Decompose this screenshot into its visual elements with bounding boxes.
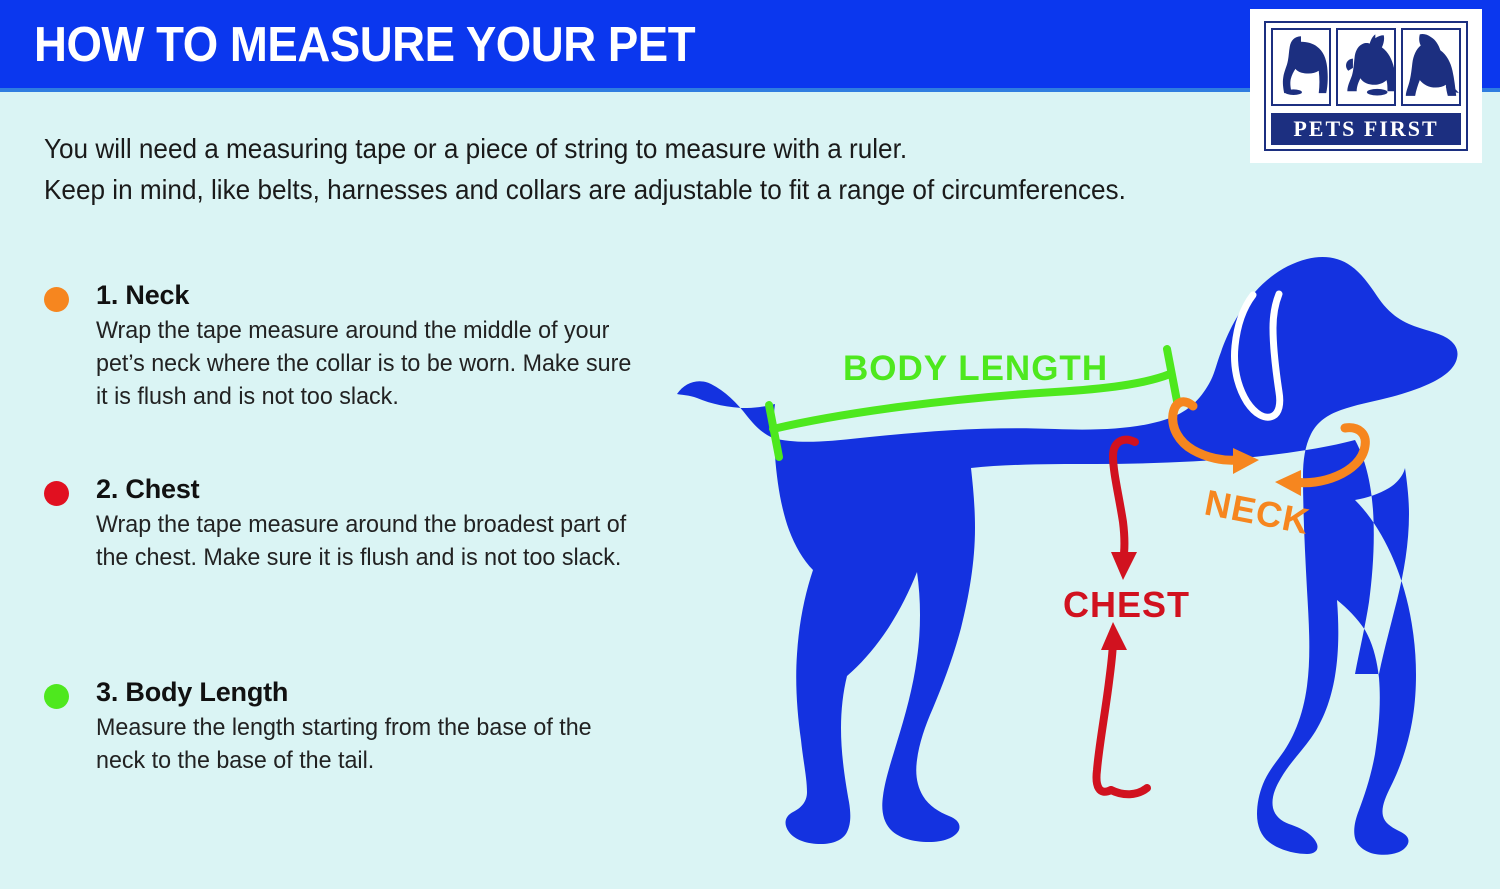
- dog-begging-silhouette-icon: [1336, 28, 1396, 106]
- logo-wordmark: PETS FIRST: [1271, 113, 1461, 145]
- page-title: HOW TO MEASURE YOUR PET: [34, 16, 695, 74]
- step-chest: 2. Chest Wrap the tape measure around th…: [44, 472, 664, 574]
- step-neck-body: Wrap the tape measure around the middle …: [96, 314, 647, 413]
- step-neck: 1. Neck Wrap the tape measure around the…: [44, 278, 664, 413]
- step-chest-heading: 2. Chest: [96, 472, 664, 506]
- dog-sitting-silhouette-icon: [1271, 28, 1331, 106]
- rear-offside-leg-separation: [1251, 588, 1257, 704]
- bullet-chest-icon: [44, 481, 69, 506]
- infographic-page: HOW TO MEASURE YOUR PET: [0, 0, 1500, 889]
- step-neck-heading: 1. Neck: [96, 278, 664, 312]
- intro-line-1: You will need a measuring tape or a piec…: [44, 128, 1270, 169]
- bullet-neck-icon: [44, 287, 69, 312]
- body-length-label: BODY LENGTH: [843, 349, 1108, 388]
- dog-silhouette: [677, 257, 1458, 855]
- bullet-body-length-icon: [44, 684, 69, 709]
- step-body-length-heading: 3. Body Length: [96, 675, 664, 709]
- intro-text: You will need a measuring tape or a piec…: [44, 128, 1270, 210]
- dog-measurement-diagram: BODY LENGTH NECK CHEST: [655, 246, 1500, 889]
- logo-wordmark-text: PETS FIRST: [1272, 114, 1460, 144]
- logo-frame: PETS FIRST: [1264, 21, 1468, 151]
- step-body-length-body: Measure the length starting from the bas…: [96, 711, 647, 777]
- step-chest-body: Wrap the tape measure around the broades…: [96, 508, 647, 574]
- pets-first-logo: PETS FIRST: [1250, 9, 1482, 163]
- annotation-chest: CHEST: [1063, 440, 1190, 795]
- dog-standing-silhouette-icon: [1401, 28, 1461, 106]
- step-body-length: 3. Body Length Measure the length starti…: [44, 675, 664, 777]
- intro-line-2: Keep in mind, like belts, harnesses and …: [44, 169, 1270, 210]
- chest-label: CHEST: [1063, 584, 1190, 625]
